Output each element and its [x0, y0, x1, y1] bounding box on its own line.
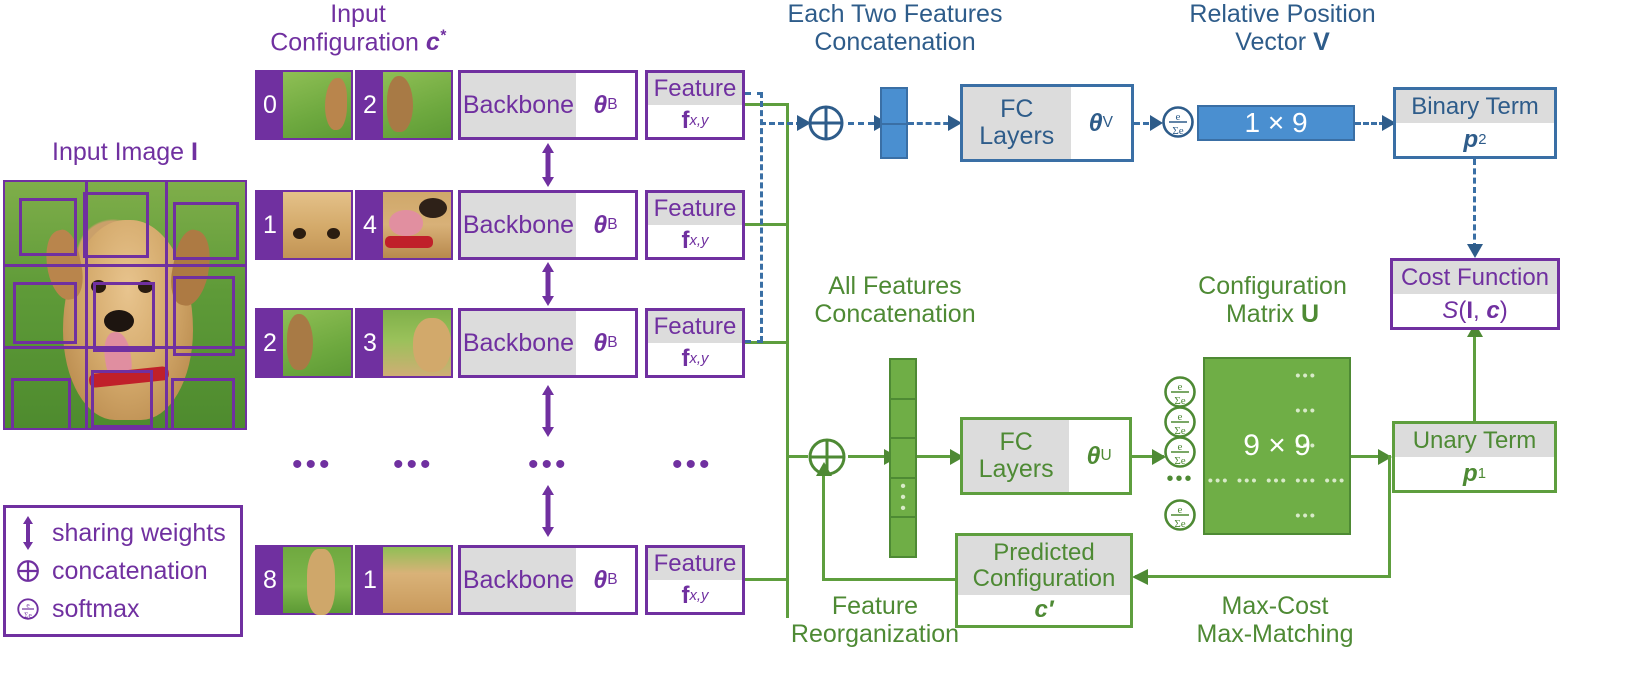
binary-term-symbol: p2 [1396, 123, 1554, 156]
feature-label-row0: Feature [648, 73, 742, 105]
green-stub-row3 [745, 578, 789, 581]
patch-box-8 [171, 378, 235, 430]
blue-dashed-stub-row2 [745, 340, 763, 343]
matrix-cell: ••• [1293, 429, 1320, 462]
green-stub-row0 [745, 103, 789, 106]
svg-text:Σe: Σe [1172, 125, 1183, 137]
feature-reorg-line1: Feature [775, 592, 975, 620]
patch-box-0 [19, 198, 77, 256]
matrix-cell [1234, 359, 1261, 392]
input-configuration-symbol: c* [426, 28, 446, 56]
matrix-cell: ••• [1293, 465, 1320, 498]
matrix-cell [1322, 359, 1349, 392]
tile-thumb-1 [283, 192, 351, 258]
matrix-cell [1322, 394, 1349, 427]
binary-term-label: Binary Term [1396, 90, 1554, 123]
green-stub-row1 [745, 223, 789, 226]
tile-index-2b: 2 [257, 310, 283, 376]
feature-box-row3: Feature fx,y [645, 545, 745, 615]
vector-bar-vertical-dots: ••• [891, 481, 915, 515]
tile-thumb-8 [283, 547, 351, 613]
concatenation-circle-plus-icon [16, 555, 40, 587]
tile-thumb-2b [283, 310, 351, 376]
configuration-matrix-line1: Configuration [1150, 272, 1395, 300]
tile-index-0: 0 [257, 72, 283, 138]
backbone-label-row3: Backbone [461, 548, 576, 612]
matrix-right-down-line [1388, 455, 1391, 578]
ellipsis-col-backbone: ••• [528, 448, 569, 482]
predicted-config-line2: Configuration [973, 566, 1116, 591]
legend-label-sharing-weights: sharing weights [52, 519, 226, 548]
grid-line-v2 [165, 182, 168, 430]
sharing-weights-arrow-0 [538, 143, 558, 192]
matrix-cell [1263, 359, 1290, 392]
backbone-row3: Backbone θB [458, 545, 638, 615]
input-image-title: Input Image I [0, 138, 250, 166]
input-image-symbol: I [191, 138, 198, 166]
tile-thumb-4 [383, 192, 451, 258]
tile-thumb-1b [383, 547, 451, 613]
tile-index-2: 2 [357, 72, 383, 138]
matrix-cell [1234, 394, 1261, 427]
matrix-cell [1322, 429, 1349, 462]
blue-dashed-bus-vertical [760, 92, 763, 342]
cost-function-label: Cost Function [1393, 261, 1557, 294]
concatenation-circle-plus-icon-top [806, 103, 846, 148]
unary-to-cost-line [1473, 330, 1476, 422]
tile-index-3: 3 [357, 310, 383, 376]
matrix-cell [1263, 429, 1290, 462]
matrix-cell [1205, 429, 1232, 462]
backbone-theta-row3: θB [576, 548, 635, 612]
blue-dashed-stub-row0 [745, 92, 763, 95]
feature-box-row1: Feature fx,y [645, 190, 745, 260]
fc-layers-unary-box: FC Layers θU [960, 417, 1132, 495]
matrix-cell [1263, 394, 1290, 427]
cost-function-box: Cost Function S(I, c) [1390, 258, 1560, 330]
matrix-cell: ••• [1293, 500, 1320, 533]
feature-box-row2: Feature fx,y [645, 308, 745, 378]
tile-thumb-0 [283, 72, 351, 138]
feature-symbol-row2: fx,y [648, 343, 742, 375]
pair-feature-divider [882, 123, 906, 125]
tile-row1-right[interactable]: 4 [355, 190, 453, 260]
maxmatch-to-predicted-arrow [1132, 568, 1148, 591]
backbone-label-row0: Backbone [461, 73, 576, 137]
fc-unary-line1: FC [999, 429, 1032, 457]
each-two-features-line1: Each Two Features [750, 0, 1040, 28]
matrix-cell: ••• [1293, 394, 1320, 427]
configuration-matrix-symbol: U [1301, 300, 1319, 328]
feature-label-row1: Feature [648, 193, 742, 225]
tile-row0-right[interactable]: 2 [355, 70, 453, 140]
softmax-circle-icon-u8: eΣe [1163, 498, 1197, 537]
feature-symbol-row0: fx,y [648, 105, 742, 137]
tile-index-1b: 1 [357, 547, 383, 613]
relative-position-vector: 1 × 9 [1197, 105, 1355, 141]
legend-label-softmax: softmax [52, 595, 140, 624]
pair-feature-vector-bar [880, 87, 908, 159]
svg-text:Σe: Σe [1174, 455, 1185, 467]
patch-box-1 [83, 192, 149, 258]
feature-symbol-row1: fx,y [648, 225, 742, 257]
backbone-row2: Backbone θB [458, 308, 638, 378]
patch-box-2 [173, 202, 239, 260]
matrix-cell: ••• [1322, 465, 1349, 498]
unary-term-symbol: p1 [1395, 457, 1554, 490]
green-bus-vertical [786, 103, 789, 618]
ellipsis-col-feature: ••• [672, 448, 713, 482]
binary-term-box: Binary Term p2 [1393, 87, 1557, 159]
patch-box-3 [13, 282, 77, 344]
patch-box-6 [11, 378, 71, 430]
grid-line-h1 [5, 264, 247, 267]
fc-unary-theta: θU [1069, 420, 1129, 492]
reorg-to-concat-arrow [815, 462, 833, 481]
tile-row2-left[interactable]: 2 [255, 308, 353, 378]
patch-box-4 [93, 282, 155, 352]
fc-binary-line1: FC [1000, 96, 1033, 124]
legend-item-softmax: e Σe softmax [16, 590, 230, 628]
fc-binary-theta: θV [1071, 87, 1131, 159]
max-cost-line2: Max-Matching [1160, 620, 1390, 648]
matrix-cell [1205, 394, 1232, 427]
svg-text:Σe: Σe [24, 610, 32, 619]
feature-symbol-row3: fx,y [648, 580, 742, 612]
green-bus-to-concat [786, 455, 808, 458]
feature-label-row2: Feature [648, 311, 742, 343]
relative-position-line1: Relative Position [1150, 0, 1415, 28]
fc-unary-line2: Layers [979, 456, 1054, 484]
backbone-label-row1: Backbone [461, 193, 576, 257]
tile-row3-right[interactable]: 1 [355, 545, 453, 615]
input-image [3, 180, 247, 430]
predicted-config-line1: Predicted [993, 540, 1094, 565]
matrix-cell: ••• [1293, 359, 1320, 392]
blue-dashed-to-concat [760, 122, 802, 125]
matrix-cell [1263, 500, 1290, 533]
matrix-cell: ••• [1205, 465, 1232, 498]
unary-term-box: Unary Term p1 [1392, 421, 1557, 493]
svg-text:Σe: Σe [1174, 518, 1185, 530]
softmax-column-ellipsis: ••• [1163, 468, 1197, 491]
configuration-matrix-title: Configuration Matrix U [1150, 272, 1395, 328]
configuration-matrix: ••• ••• ••• ••• ••• ••• ••• ••• ••• 9 × … [1203, 357, 1351, 535]
relative-position-vector-label: 1 × 9 [1244, 107, 1307, 139]
tile-thumb-3 [383, 310, 451, 376]
legend-item-concatenation: concatenation [16, 552, 230, 590]
matrix-cell [1322, 500, 1349, 533]
fc-layers-binary-box: FC Layers θV [960, 84, 1134, 162]
legend-box: sharing weights concatenation e Σe softm… [3, 505, 243, 637]
tile-row2-right[interactable]: 3 [355, 308, 453, 378]
svg-text:e: e [1176, 111, 1181, 123]
predicted-to-reorg-line [822, 578, 957, 581]
sharing-weights-arrow-2 [538, 385, 558, 442]
tile-thumb-2 [383, 72, 451, 138]
max-cost-max-matching-label: Max-Cost Max-Matching [1160, 592, 1390, 648]
predicted-configuration-box: Predicted Configuration c′ [955, 533, 1133, 628]
feature-box-row0: Feature fx,y [645, 70, 745, 140]
unary-term-label: Unary Term [1395, 424, 1554, 457]
ellipsis-col-right: ••• [393, 448, 434, 482]
each-two-features-title: Each Two Features Concatenation [750, 0, 1040, 56]
backbone-theta-row2: θB [576, 311, 635, 375]
softmax-circle-icon: e Σe [16, 593, 40, 625]
softmax-circle-icon-v: eΣe [1161, 105, 1195, 144]
cost-function-symbol: S(I, c) [1393, 294, 1557, 327]
feature-label-row3: Feature [648, 548, 742, 580]
all-features-concatenation-title: All Features Concatenation [790, 272, 1000, 328]
matrix-cell [1205, 500, 1232, 533]
feature-reorg-line2: Reorganization [775, 620, 975, 648]
input-configuration-title-line2: Configuration [270, 28, 419, 56]
predicted-config-symbol: c′ [958, 595, 1130, 625]
patch-box-5 [173, 276, 235, 356]
backbone-theta-row1: θB [576, 193, 635, 257]
backbone-theta-row0: θB [576, 73, 635, 137]
maxmatch-horizontal-line [1135, 575, 1391, 578]
each-two-features-line2: Concatenation [750, 28, 1040, 56]
input-configuration-title: Input Configuration c* [243, 0, 473, 56]
matrix-cell [1205, 359, 1232, 392]
tile-index-8: 8 [257, 547, 283, 613]
legend-label-concatenation: concatenation [52, 557, 208, 586]
all-features-line1: All Features [790, 272, 1000, 300]
max-cost-line1: Max-Cost [1160, 592, 1390, 620]
tile-index-4: 4 [357, 192, 383, 258]
legend-item-sharing-weights: sharing weights [16, 514, 230, 552]
tile-row3-left[interactable]: 8 [255, 545, 353, 615]
backbone-row0: Backbone θB [458, 70, 638, 140]
relative-position-vector-title: Relative Position Vector V [1150, 0, 1415, 56]
ellipsis-col-left: ••• [292, 448, 333, 482]
matrix-cell [1234, 500, 1261, 533]
backbone-row1: Backbone θB [458, 190, 638, 260]
all-features-vector-bar: ••• [889, 358, 917, 558]
tile-row0-left[interactable]: 0 [255, 70, 353, 140]
patch-box-7 [91, 370, 153, 428]
matrix-cell [1234, 429, 1261, 462]
fc-binary-line2: Layers [979, 123, 1054, 151]
all-features-line2: Concatenation [790, 300, 1000, 328]
sharing-weights-arrow-3 [538, 485, 558, 542]
feature-reorganization-label: Feature Reorganization [775, 592, 975, 648]
tile-index-1: 1 [257, 192, 283, 258]
sharing-weights-arrow-1 [538, 262, 558, 311]
backbone-label-row2: Backbone [461, 311, 576, 375]
reorg-vertical-line [822, 470, 825, 580]
matrix-cell: ••• [1263, 465, 1290, 498]
binary-to-cost-dashed [1473, 159, 1476, 249]
matrix-cell: ••• [1234, 465, 1261, 498]
tile-row1-left[interactable]: 1 [255, 190, 353, 260]
binary-to-cost-arrow [1466, 244, 1484, 263]
input-configuration-title-line1: Input [243, 0, 473, 28]
relative-position-symbol: V [1313, 28, 1330, 56]
sharing-weights-arrow-icon [16, 516, 40, 550]
